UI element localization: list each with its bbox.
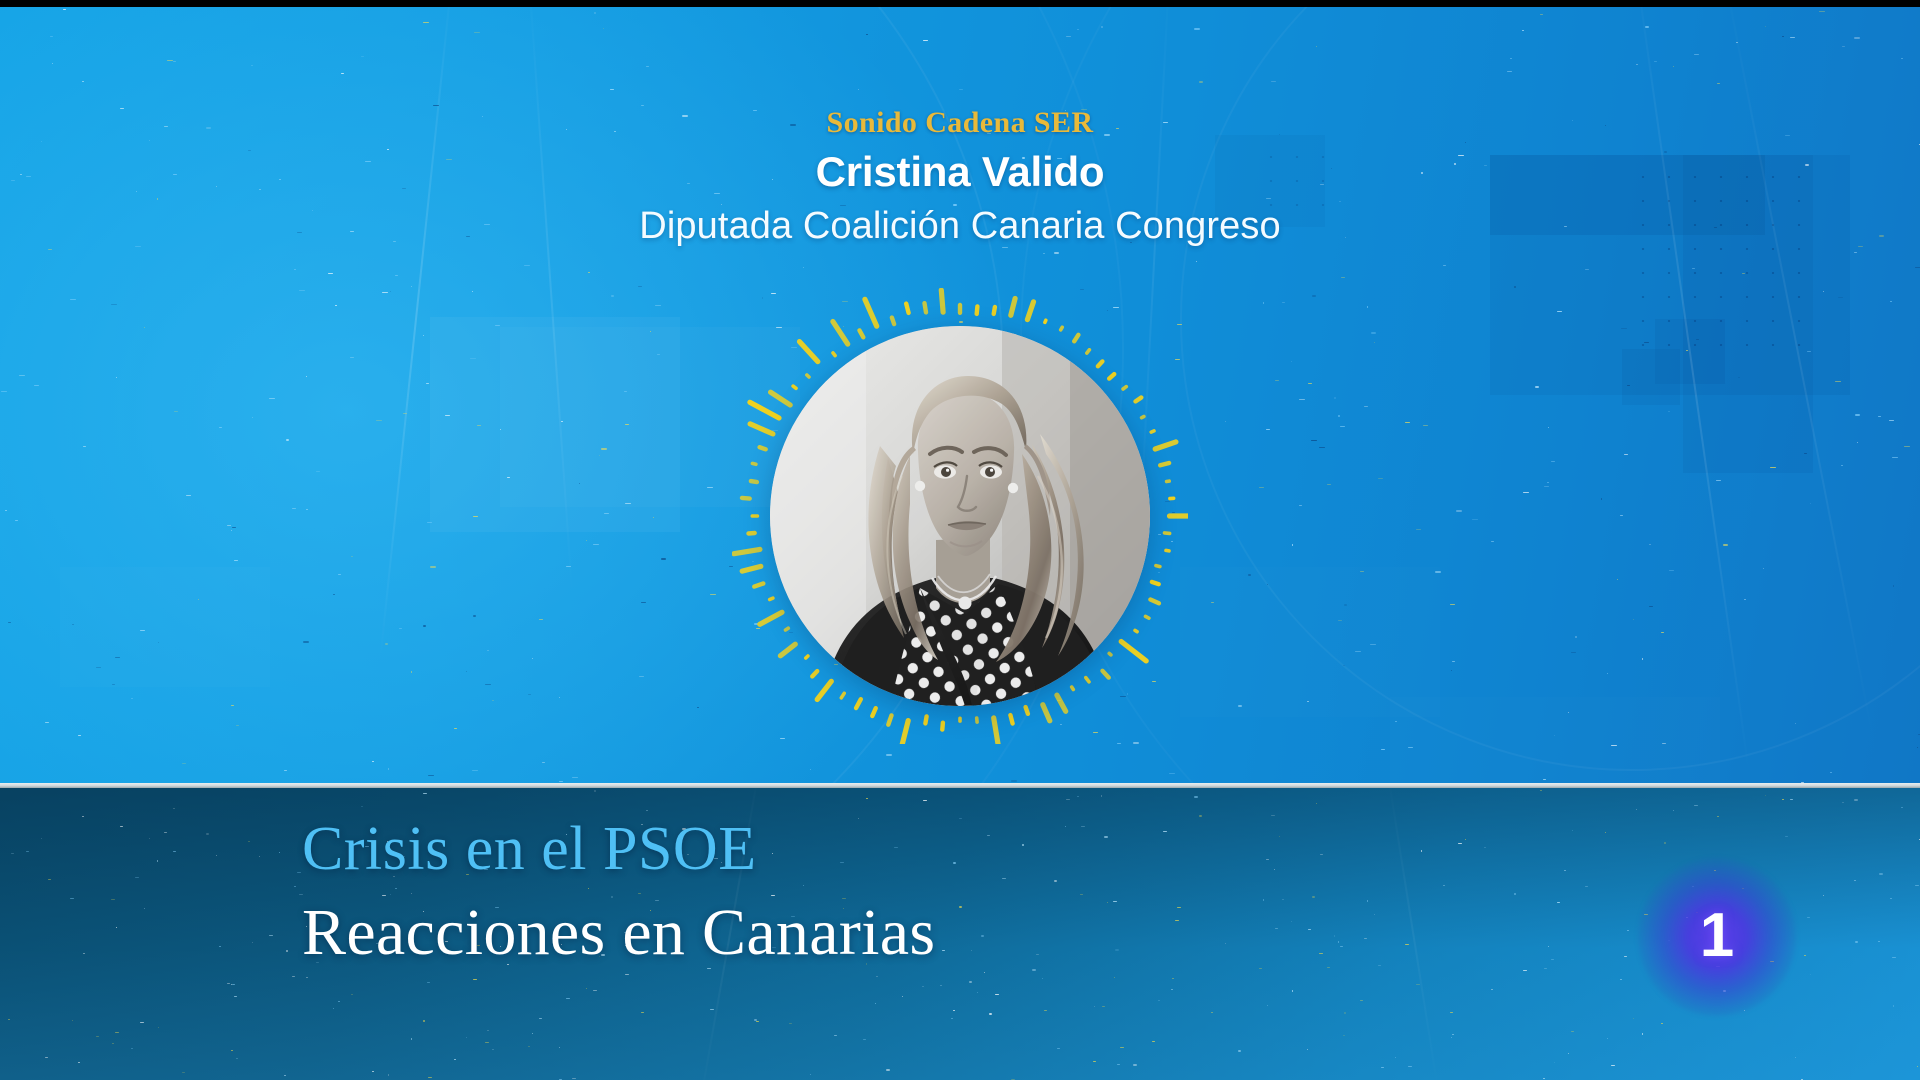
portrait-image [770,326,1150,706]
speaker-portrait [732,288,1188,744]
channel-logo: 1 [1638,858,1796,1016]
speaker-name: Cristina Valido [0,151,1920,193]
headline-main: Reacciones en Canarias [302,900,935,966]
channel-number-label: 1 [1638,858,1796,1016]
section-divider [0,783,1920,788]
broadcast-screen: Sonido Cadena SER Cristina Valido Diputa… [0,0,1920,1080]
avatar [770,326,1150,706]
headline-kicker: Crisis en el PSOE [302,818,935,880]
speaker-role: Diputada Coalición Canaria Congreso [0,207,1920,245]
speaker-card: Sonido Cadena SER Cristina Valido Diputa… [0,108,1920,245]
lower-third-text: Crisis en el PSOE Reacciones en Canarias [302,818,935,966]
letterbox-bar-top [0,0,1920,7]
decorative-speckle-layer [0,788,1920,1080]
audio-source-label: Sonido Cadena SER [0,108,1920,138]
lower-third-band [0,788,1920,1080]
